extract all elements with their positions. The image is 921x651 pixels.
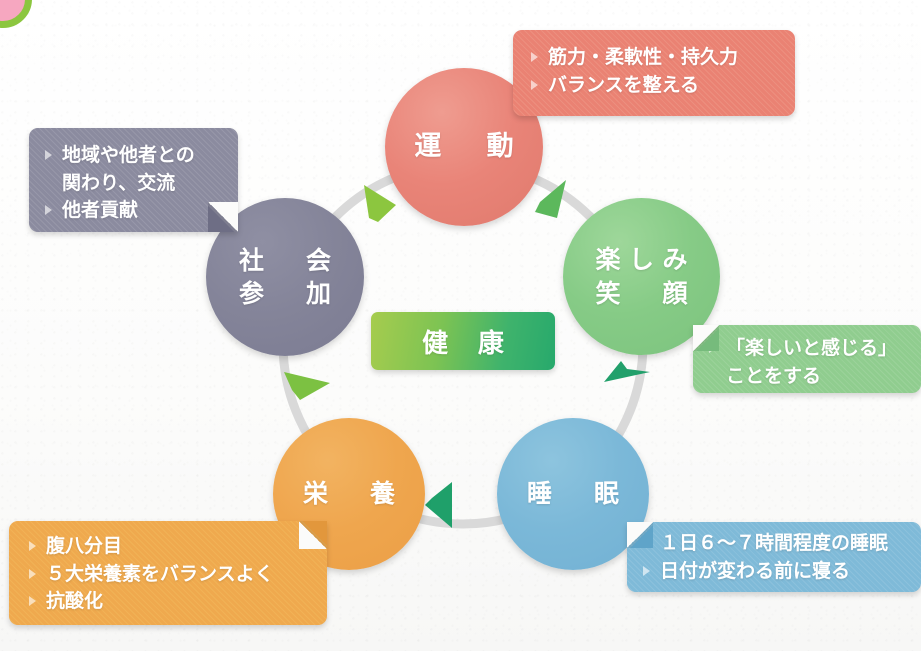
callout-tanoshimi-item-1: 「楽しいと感じる」 [726, 337, 897, 359]
bullet-triangle-icon [29, 596, 36, 606]
bullet-triangle-icon [531, 52, 538, 62]
callout-undou-item-1: 筋力・柔軟性・持久力 [548, 46, 738, 68]
bullet-triangle-icon [45, 150, 52, 160]
callout-suimin: １日６～７時間程度の睡眠 日付が変わる前に寝る [627, 522, 921, 592]
node-suimin-line-1: 睡 眠 [518, 477, 627, 511]
callout-undou-item-2: バランスを整える [548, 74, 699, 96]
node-tanoshimi-line-2: 笑 顔 [587, 277, 696, 311]
node-tanoshimi-line-1: 楽しみ [587, 243, 696, 277]
list-item: 抗酸化 [27, 588, 327, 616]
list-item: 「楽しいと感じる」 [707, 335, 921, 363]
callout-undou: 筋力・柔軟性・持久力 バランスを整える [513, 30, 795, 116]
list-item: 地域や他者との [43, 142, 238, 170]
list-item-continuation: 関わり、交流 [43, 170, 238, 198]
infographic-canvas: 運 動 楽しみ 笑 顔 睡 眠 栄 養 社 会 参 加 健 康 筋力・柔軟性・持… [0, 0, 921, 651]
node-shakai-line-2: 参 加 [230, 277, 339, 311]
folded-corner-icon [693, 325, 719, 351]
callout-suimin-list: １日６～７時間程度の睡眠 日付が変わる前に寝る [641, 530, 921, 585]
bullet-triangle-icon [643, 566, 650, 576]
callout-eiyou-item-2: ５大栄養素をバランスよく [46, 563, 274, 585]
callout-shakai-item-1b: 関わり、交流 [62, 172, 175, 194]
list-item: ５大栄養素をバランスよく [27, 561, 327, 589]
list-item: １日６～７時間程度の睡眠 [641, 530, 921, 558]
center-label-kenkou: 健 康 [371, 312, 555, 370]
bullet-triangle-icon [29, 541, 36, 551]
callout-tanoshimi-list: 「楽しいと感じる」 ことをする [707, 335, 921, 390]
node-eiyou-line-1: 栄 養 [294, 477, 403, 511]
list-item: 日付が変わる前に寝る [641, 558, 921, 586]
callout-tanoshimi-item-1b: ことをする [726, 365, 821, 387]
callout-shakai-item-1: 地域や他者との [62, 144, 195, 166]
folded-corner-icon [208, 202, 238, 232]
bullet-triangle-icon [531, 80, 538, 90]
list-item: 腹八分目 [27, 533, 327, 561]
folded-corner-icon [627, 522, 653, 548]
callout-suimin-item-1: １日６～７時間程度の睡眠 [660, 532, 888, 554]
center-label-text: 健 康 [412, 323, 515, 360]
bullet-triangle-icon [29, 569, 36, 579]
bullet-triangle-icon [45, 205, 52, 215]
list-item: バランスを整える [529, 72, 795, 100]
node-undou-line-1: 運 動 [405, 129, 523, 165]
callout-suimin-item-2: 日付が変わる前に寝る [660, 560, 850, 582]
callout-eiyou-item-3: 抗酸化 [46, 590, 103, 612]
callout-eiyou-item-1: 腹八分目 [46, 535, 122, 557]
callout-shakai: 地域や他者との 関わり、交流 他者貢献 [29, 128, 238, 232]
callout-tanoshimi: 「楽しいと感じる」 ことをする [693, 325, 921, 393]
list-item: 筋力・柔軟性・持久力 [529, 44, 795, 72]
callout-eiyou: 腹八分目 ５大栄養素をバランスよく 抗酸化 [9, 521, 327, 625]
node-shakai-line-1: 社 会 [230, 244, 339, 278]
arrow-to-undou-icon [364, 185, 396, 222]
list-item-continuation: ことをする [707, 363, 921, 391]
folded-corner-icon [299, 521, 327, 549]
callout-undou-list: 筋力・柔軟性・持久力 バランスを整える [529, 44, 795, 99]
callout-eiyou-list: 腹八分目 ５大栄養素をバランスよく 抗酸化 [27, 533, 327, 616]
callout-shakai-item-2: 他者貢献 [62, 199, 138, 221]
